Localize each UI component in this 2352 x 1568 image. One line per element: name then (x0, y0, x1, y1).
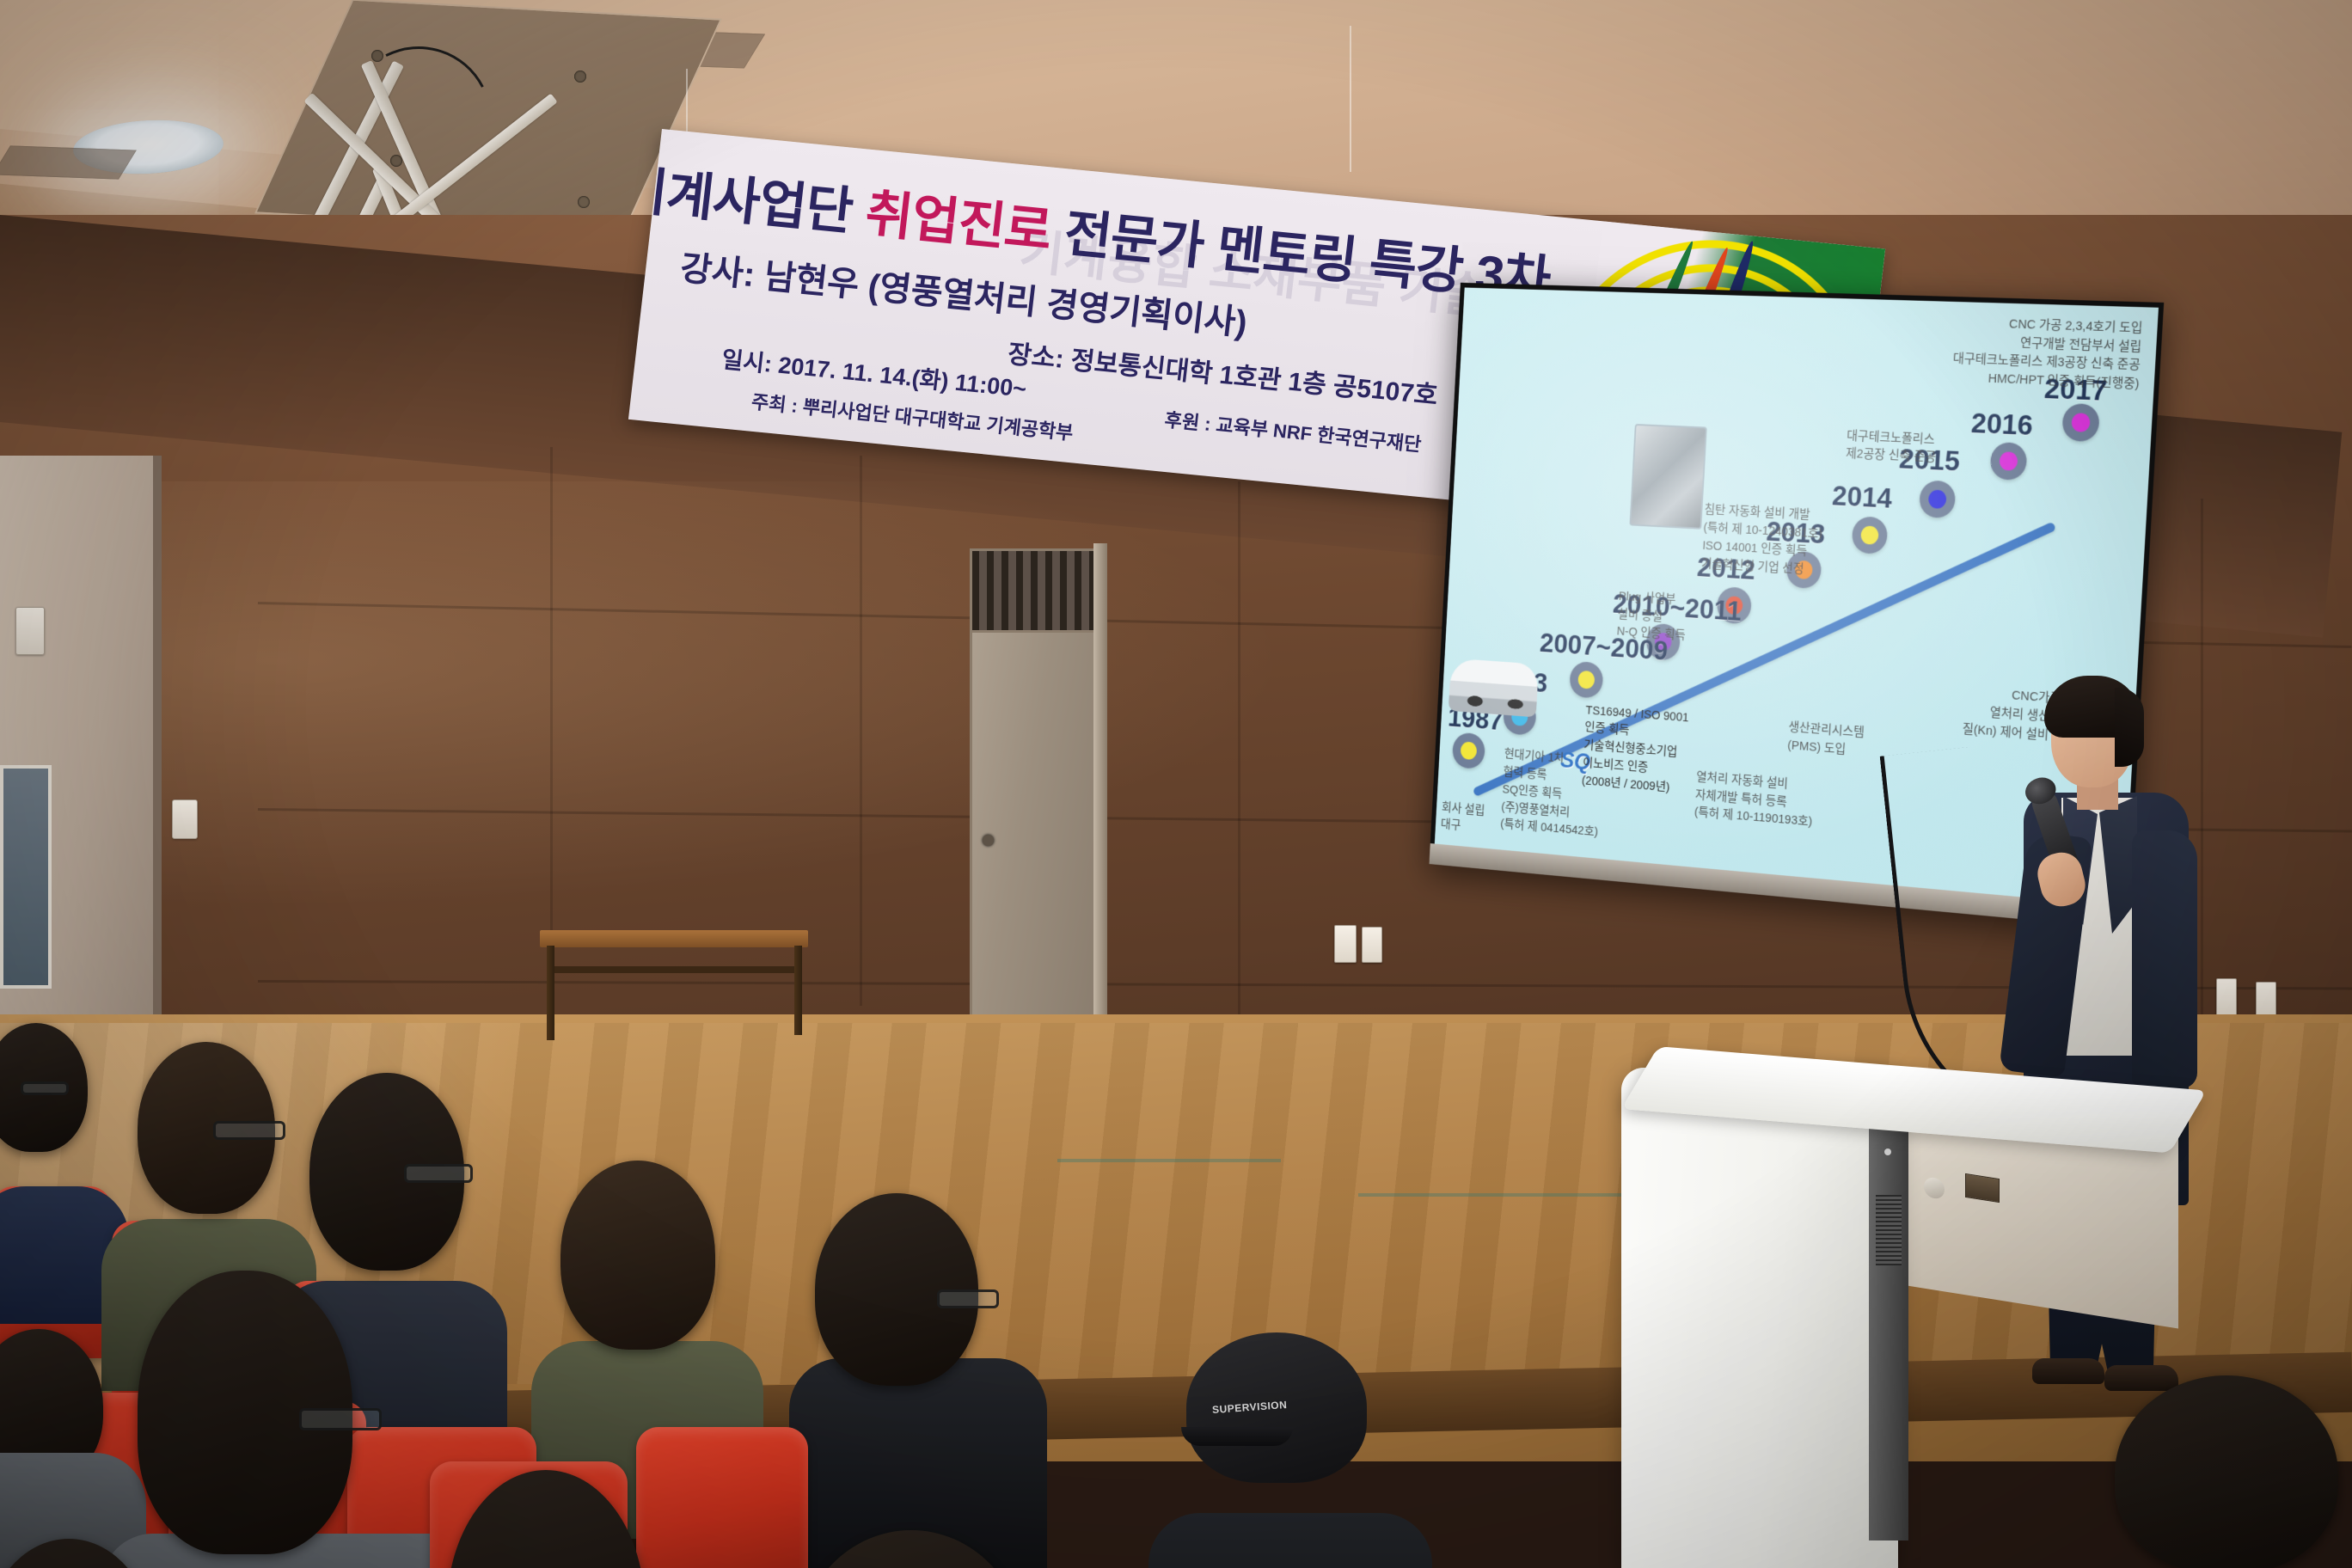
glasses-icon (21, 1081, 69, 1095)
wall-outlet-1[interactable] (1334, 925, 1357, 963)
table-leg-right (794, 946, 802, 1035)
audience-shoulders (1148, 1513, 1432, 1568)
wall-outlet-3[interactable] (2216, 978, 2237, 1016)
banner-title-prefix: 기계사업단 (628, 161, 855, 241)
timeline-note-2007-2009: TS16949 / ISO 9001 인증 획득 기술혁신형중소기업 이노비즈 … (1582, 701, 1700, 799)
audience-head (560, 1161, 715, 1350)
banner-hanger-right (1350, 26, 1351, 172)
podium-body (1621, 1068, 1898, 1568)
timeline-node-1987 (1452, 732, 1485, 770)
side-door[interactable] (970, 548, 1097, 1038)
wall-outlet-2[interactable] (1362, 927, 1382, 963)
timeline-car-image (1449, 658, 1539, 718)
lift-pin-5 (578, 196, 590, 208)
ceiling-vent-left (0, 145, 137, 179)
door-knob[interactable] (983, 835, 994, 846)
timeline-node-2007-2009 (1569, 661, 1603, 699)
timeline-year-2016: 2016 (1970, 407, 2034, 443)
wall-outlet-left[interactable] (172, 799, 198, 839)
glasses-icon (937, 1289, 999, 1308)
audience: SUPERVISION (0, 1023, 1393, 1568)
timeline-note-2012: 열처리 자동화 설비 자체개발 특허 등록 (특허 제 10-1190193호) (1694, 768, 1848, 834)
podium-vent (1876, 1195, 1902, 1265)
glasses-icon (213, 1121, 285, 1140)
banner-title-highlight: 취업진로 (862, 185, 1054, 260)
timeline-note-2017: CNC 가공 2,3,4호기 도입 연구개발 전담부서 설립 대구테크노폴리스 … (1864, 311, 2143, 395)
chair[interactable] (636, 1427, 808, 1568)
glasses-icon (299, 1408, 382, 1430)
banner-sponsor-line: 후원 : 교육부 NRF 한국연구재단 (1163, 405, 1423, 457)
wall-light-sheen (0, 481, 1375, 928)
podium-control-column (1869, 1093, 1908, 1540)
table-top (540, 930, 808, 947)
timeline-node-2015 (1919, 480, 1957, 518)
audience-head (2115, 1375, 2338, 1568)
door-louver-vent (972, 551, 1094, 633)
table-rail (547, 966, 801, 973)
timeline-note-2013: 침탄 자동화 설비 개발 (특허 제 10-1240381호) ISO 1400… (1701, 501, 1843, 580)
cap-brim (1181, 1427, 1293, 1446)
timeline-photo-plant (1629, 424, 1706, 530)
timeline-note-2010-2011: Plug 사업부 설비 증설 N-Q 인증 획득 (1616, 588, 1706, 646)
lift-pin-4 (574, 70, 586, 83)
timeline-node-2016 (1990, 442, 2028, 481)
podium-led-indicator (1884, 1148, 1891, 1155)
timeline-node-2014 (1852, 516, 1889, 554)
lecture-hall-photo: 기계융합 소재부품 기술 기계사업단 취업진로 전문가 멘토링 특강 3차 강사… (0, 0, 2352, 1568)
wall-panel-line-v3 (1238, 481, 1240, 1032)
left-wall-edge (153, 456, 162, 1075)
timeline-note-2015: 대구테크노폴리스 제2공장 신축 준공 (1846, 426, 1975, 469)
light-switch-plate[interactable] (15, 607, 45, 655)
timeline-node-2017 (2062, 403, 2101, 442)
presenter-hair-side (2115, 688, 2144, 767)
glasses-icon (404, 1164, 473, 1183)
door-jamb (1093, 543, 1107, 1042)
wall-panel-line-v1 (550, 447, 553, 997)
wall-poster (0, 765, 52, 989)
wall-panel-line-v2 (860, 456, 862, 1006)
